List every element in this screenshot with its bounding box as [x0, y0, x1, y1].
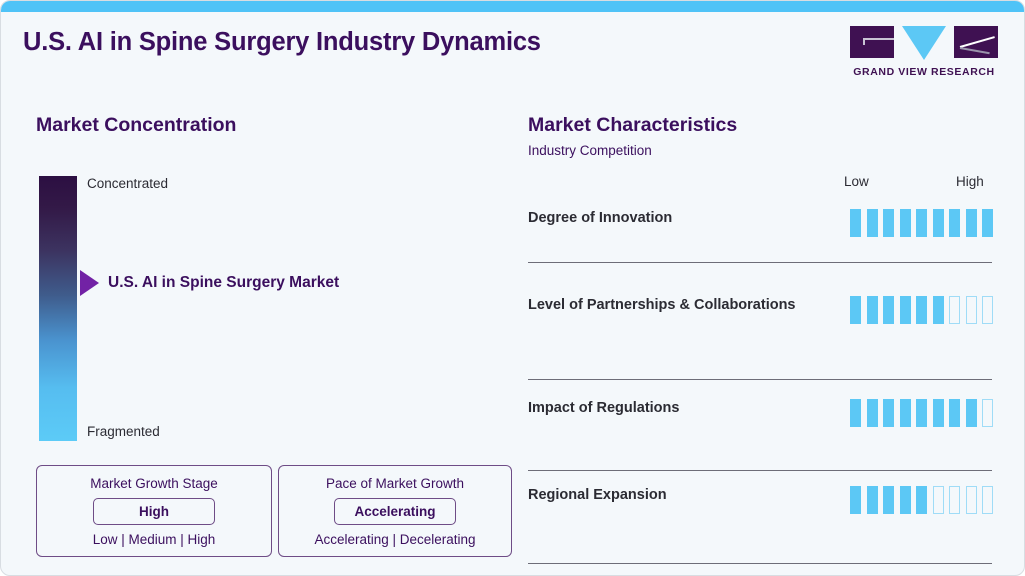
rating-segment-filled	[949, 399, 960, 427]
row-divider	[528, 379, 992, 380]
characteristic-row: Level of Partnerships & Collaborations	[528, 296, 1006, 390]
market-position-marker-icon	[80, 270, 99, 296]
rating-segment-empty	[966, 486, 977, 514]
logo-square-right-icon	[954, 26, 998, 58]
page-title: U.S. AI in Spine Surgery Industry Dynami…	[23, 28, 541, 57]
characteristic-label: Degree of Innovation	[528, 209, 818, 228]
rating-segment-empty	[982, 486, 993, 514]
rating-segment-filled	[900, 399, 911, 427]
concentration-gradient-scale	[39, 176, 77, 441]
market-concentration-title: Market Concentration	[36, 114, 236, 137]
infographic-canvas: U.S. AI in Spine Surgery Industry Dynami…	[0, 0, 1025, 576]
market-characteristics-panel: Market Characteristics Industry Competit…	[516, 96, 1025, 576]
pace-of-market-growth-heading: Pace of Market Growth	[279, 476, 511, 491]
rating-segment-filled	[916, 296, 927, 324]
rating-segment-filled	[916, 486, 927, 514]
pace-of-market-growth-box: Pace of Market Growth Accelerating Accel…	[278, 465, 512, 557]
market-characteristics-title: Market Characteristics	[528, 114, 737, 137]
rating-segment-filled	[883, 486, 894, 514]
characteristic-rating-bars	[850, 399, 993, 427]
row-divider	[528, 563, 992, 564]
characteristic-label: Level of Partnerships & Collaborations	[528, 296, 818, 315]
rating-segment-empty	[966, 296, 977, 324]
rating-segment-filled	[949, 209, 960, 237]
scale-low-label: Low	[844, 174, 869, 189]
logo-square-left-icon	[850, 26, 894, 58]
market-characteristics-subtitle: Industry Competition	[528, 143, 652, 158]
rating-segment-filled	[850, 486, 861, 514]
characteristic-rating-bars	[850, 486, 993, 514]
rating-segment-filled	[900, 486, 911, 514]
rating-segment-filled	[883, 296, 894, 324]
rating-segment-filled	[867, 209, 878, 237]
concentration-bottom-label: Fragmented	[87, 424, 160, 439]
rating-segment-empty	[949, 486, 960, 514]
header: U.S. AI in Spine Surgery Industry Dynami…	[1, 12, 1025, 90]
rating-segment-empty	[933, 486, 944, 514]
rating-segment-filled	[883, 399, 894, 427]
market-growth-stage-value: High	[93, 498, 215, 525]
market-growth-stage-options: Low | Medium | High	[37, 532, 271, 547]
grand-view-research-logo: GRAND VIEW RESEARCH	[850, 26, 998, 84]
rating-segment-filled	[916, 399, 927, 427]
rating-segment-filled	[933, 209, 944, 237]
rating-segment-filled	[933, 399, 944, 427]
pace-of-market-growth-options: Accelerating | Decelerating	[279, 532, 511, 547]
logo-wordmark: GRAND VIEW RESEARCH	[850, 66, 998, 78]
rating-segment-empty	[982, 296, 993, 324]
top-accent-bar	[1, 1, 1025, 12]
rating-segment-filled	[900, 209, 911, 237]
rating-segment-filled	[966, 399, 977, 427]
rating-segment-filled	[900, 296, 911, 324]
rating-segment-empty	[949, 296, 960, 324]
concentration-top-label: Concentrated	[87, 176, 168, 191]
rating-segment-filled	[982, 209, 993, 237]
logo-marks	[850, 26, 998, 62]
rating-segment-filled	[916, 209, 927, 237]
rating-segment-filled	[867, 399, 878, 427]
rating-segment-filled	[850, 399, 861, 427]
rating-segment-filled	[933, 296, 944, 324]
pace-of-market-growth-value: Accelerating	[334, 498, 456, 525]
rating-segment-filled	[850, 296, 861, 324]
rating-segment-filled	[966, 209, 977, 237]
characteristic-row: Degree of Innovation	[528, 209, 1006, 303]
row-divider	[528, 262, 992, 263]
rating-segment-empty	[982, 399, 993, 427]
market-growth-stage-box: Market Growth Stage High Low | Medium | …	[36, 465, 272, 557]
market-growth-stage-heading: Market Growth Stage	[37, 476, 271, 491]
logo-triangle-icon	[902, 26, 946, 60]
row-divider	[528, 470, 992, 471]
characteristic-row: Impact of Regulations	[528, 399, 1006, 493]
rating-segment-filled	[867, 486, 878, 514]
scale-high-label: High	[956, 174, 984, 189]
characteristic-label: Regional Expansion	[528, 486, 818, 505]
market-position-label: U.S. AI in Spine Surgery Market	[108, 274, 339, 292]
rating-segment-filled	[883, 209, 894, 237]
rating-segment-filled	[850, 209, 861, 237]
characteristic-rating-bars	[850, 296, 993, 324]
characteristic-label: Impact of Regulations	[528, 399, 818, 418]
rating-segment-filled	[867, 296, 878, 324]
market-concentration-panel: Market Concentration Concentrated Fragme…	[1, 96, 516, 576]
characteristic-rating-bars	[850, 209, 993, 237]
